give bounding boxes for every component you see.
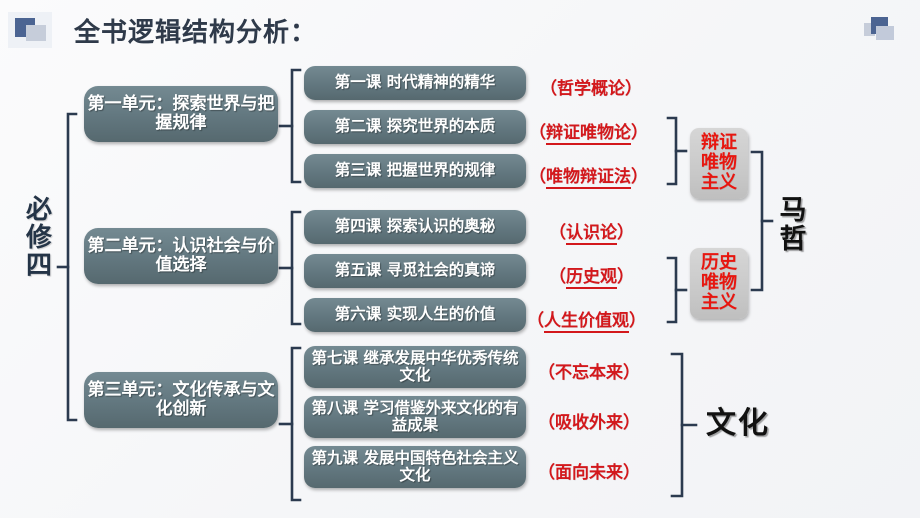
unit-box-1[interactable]: 第一单元：探索世界与把握规律 [84,86,278,142]
lesson-box-9[interactable]: 第九课 发展中国特色社会主义文化 [304,446,526,488]
annotation-6: （人生价值观） [527,306,646,331]
lesson-box-8[interactable]: 第八课 学习借鉴外来文化的有益成果 [304,396,526,438]
ism-line: 主义 [690,173,748,193]
annot-close-paren: ） [617,223,634,243]
decorative-square-logo-left [8,12,52,48]
decorative-square-logo-right [860,12,900,48]
spine-char: 四 [22,252,56,280]
annotation-8: （吸收外来） [538,408,640,433]
annotation-4: （认识论） [549,218,634,243]
annotation-7: （不忘本来） [538,358,640,383]
annot-close-paren: ） [631,123,648,143]
annot-core: 认识论 [566,223,617,245]
annot-close-paren: ） [623,463,640,483]
annot-close-paren: ） [629,311,646,331]
ism-line: 唯物 [690,273,748,293]
lesson-box-7[interactable]: 第七课 继承发展中华优秀传统文化 [304,346,526,388]
annot-open-paren: （ [527,311,544,331]
annotation-3: （唯物辩证法） [529,162,648,187]
slide-canvas: 全书逻辑结构分析： 必 修 四 [0,0,920,518]
annot-open-paren: （ [538,363,555,383]
summary-label-mazhe: 马 哲 [776,196,810,254]
annot-close-paren: ） [617,267,634,287]
logo-square-light-b [876,26,894,40]
annot-open-paren: （ [529,167,546,187]
annot-open-paren: （ [538,413,555,433]
spine-char: 修 [22,224,56,252]
annot-open-paren: （ [540,79,557,99]
ism-box-historical-materialism[interactable]: 历史 唯物 主义 [690,248,748,319]
lesson-box-5[interactable]: 第五课 寻觅社会的真谛 [304,254,526,288]
unit-box-2[interactable]: 第二单元：认识社会与价值选择 [84,228,278,284]
summary-char: 马 [776,196,810,225]
annot-open-paren: （ [538,463,555,483]
annot-core: 辩证唯物论 [546,123,631,145]
annot-close-paren: ） [625,79,642,99]
ism-line: 主义 [690,293,748,313]
annot-open-paren: （ [549,223,566,243]
lesson-box-4[interactable]: 第四课 探索认识的奥秘 [304,210,526,244]
annot-core: 历史观 [566,267,617,289]
summary-label-wenhua: 文化 [706,398,770,442]
annot-core: 不忘本来 [555,363,623,383]
annotation-2: （辩证唯物论） [529,118,648,143]
annotation-1: （哲学概论） [540,74,642,99]
logo-square-light [26,25,46,41]
annot-core: 面向未来 [555,463,623,483]
annot-core: 人生价值观 [544,311,629,333]
page-title: 全书逻辑结构分析： [74,12,317,49]
annot-close-paren: ） [623,363,640,383]
annot-core: 唯物辩证法 [546,167,631,189]
annot-core: 哲学概论 [557,79,625,99]
lesson-box-6[interactable]: 第六课 实现人生的价值 [304,298,526,332]
annot-open-paren: （ [529,123,546,143]
ism-box-dialectical-materialism[interactable]: 辩证 唯物 主义 [690,128,748,199]
spine-label-bixiu-si: 必 修 四 [22,196,56,280]
annot-core: 吸收外来 [555,413,623,433]
unit-box-3[interactable]: 第三单元：文化传承与文化创新 [84,372,278,428]
annotation-9: （面向未来） [538,458,640,483]
lesson-box-3[interactable]: 第三课 把握世界的规律 [304,154,526,188]
ism-line: 辩证 [690,133,748,153]
lesson-box-2[interactable]: 第二课 探究世界的本质 [304,110,526,144]
annot-close-paren: ） [631,167,648,187]
ism-line: 历史 [690,253,748,273]
ism-line: 唯物 [690,153,748,173]
summary-char: 哲 [776,225,810,254]
annotation-5: （历史观） [549,262,634,287]
annot-open-paren: （ [549,267,566,287]
spine-char: 必 [22,196,56,224]
annot-close-paren: ） [623,413,640,433]
lesson-box-1[interactable]: 第一课 时代精神的精华 [304,66,526,100]
